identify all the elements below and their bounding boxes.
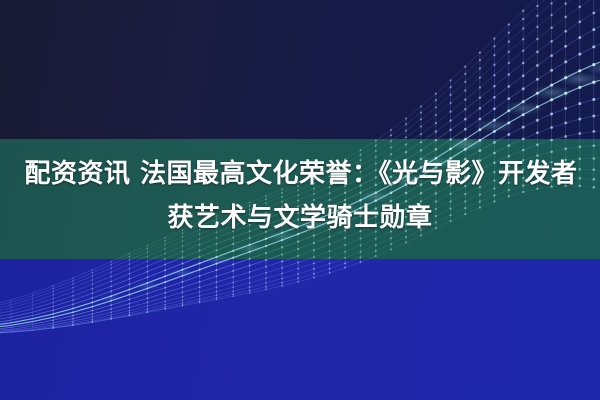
headline-line-2: 获艺术与文学骑士勋章 — [0, 196, 600, 240]
banner-image: 配资资讯 法国最高文化荣誉：《光与影》开发者 获艺术与文学骑士勋章 — [0, 0, 600, 400]
page-title: 配资资讯 法国最高文化荣誉：《光与影》开发者 获艺术与文学骑士勋章 — [0, 152, 600, 240]
headline-line-1: 配资资讯 法国最高文化荣誉：《光与影》开发者 — [0, 152, 600, 196]
